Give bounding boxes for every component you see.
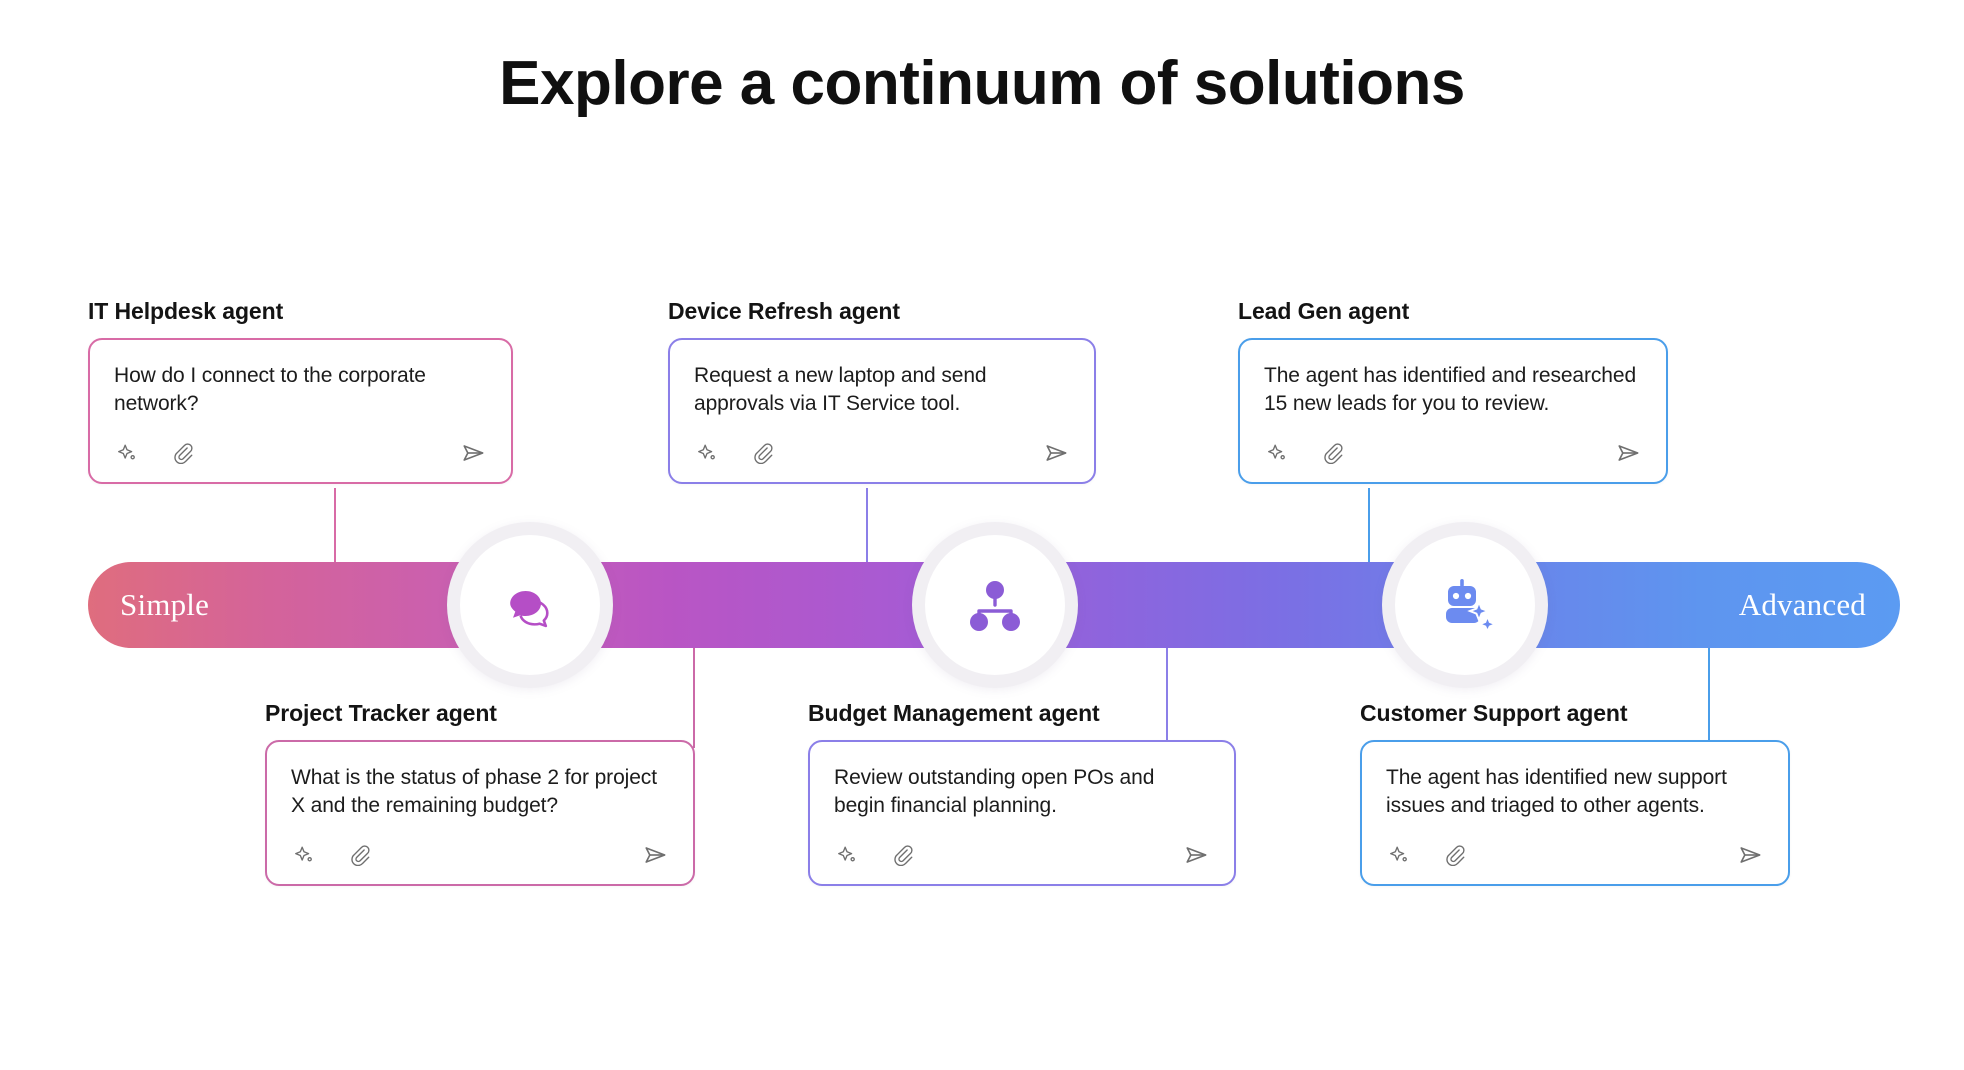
agent-message-text: Request a new laptop and send approvals …: [694, 362, 1070, 420]
agent-message-text: The agent has identified and researched …: [1264, 362, 1642, 420]
sparkle-icon[interactable]: [114, 440, 140, 466]
agent-message-card[interactable]: How do I connect to the corporate networ…: [88, 338, 513, 484]
send-icon[interactable]: [1044, 440, 1070, 466]
agent-card-it-helpdesk[interactable]: IT Helpdesk agent How do I connect to th…: [88, 298, 513, 484]
agent-card-device-refresh[interactable]: Device Refresh agent Request a new lapto…: [668, 298, 1096, 484]
paperclip-icon[interactable]: [170, 440, 196, 466]
continuum-label-simple: Simple: [120, 587, 209, 623]
send-icon[interactable]: [461, 440, 487, 466]
card-toolbar: [291, 842, 669, 868]
agent-label: IT Helpdesk agent: [88, 298, 513, 325]
agent-message-card[interactable]: What is the status of phase 2 for projec…: [265, 740, 695, 886]
agent-message-card[interactable]: The agent has identified and researched …: [1238, 338, 1668, 484]
sparkle-icon[interactable]: [1386, 842, 1412, 868]
paperclip-icon[interactable]: [1442, 842, 1468, 868]
paperclip-icon[interactable]: [1320, 440, 1346, 466]
card-toolbar: [114, 440, 487, 466]
agent-message-card[interactable]: The agent has identified new support iss…: [1360, 740, 1790, 886]
agent-label: Device Refresh agent: [668, 298, 1096, 325]
card-toolbar: [1386, 842, 1764, 868]
page-title: Explore a continuum of solutions: [0, 48, 1964, 119]
send-icon[interactable]: [643, 842, 669, 868]
sparkle-icon[interactable]: [834, 842, 860, 868]
send-icon[interactable]: [1616, 440, 1642, 466]
agent-label: Customer Support agent: [1360, 700, 1790, 727]
send-icon[interactable]: [1184, 842, 1210, 868]
agent-message-card[interactable]: Request a new laptop and send approvals …: [668, 338, 1096, 484]
sparkle-icon[interactable]: [1264, 440, 1290, 466]
agent-message-text: How do I connect to the corporate networ…: [114, 362, 487, 420]
agent-message-text: What is the status of phase 2 for projec…: [291, 764, 669, 822]
continuum-label-advanced: Advanced: [1739, 587, 1866, 623]
agent-card-budget-management[interactable]: Budget Management agent Review outstandi…: [808, 700, 1236, 886]
chat-bubbles-icon: [498, 573, 562, 637]
paperclip-icon[interactable]: [347, 842, 373, 868]
agent-message-text: Review outstanding open POs and begin fi…: [834, 764, 1210, 822]
agent-card-lead-gen[interactable]: Lead Gen agent The agent has identified …: [1238, 298, 1668, 484]
card-toolbar: [834, 842, 1210, 868]
send-icon[interactable]: [1738, 842, 1764, 868]
agent-label: Budget Management agent: [808, 700, 1236, 727]
robot-sparkle-icon: [1432, 572, 1498, 638]
continuum-node-chat[interactable]: [447, 522, 613, 688]
agent-message-card[interactable]: Review outstanding open POs and begin fi…: [808, 740, 1236, 886]
sparkle-icon[interactable]: [291, 842, 317, 868]
agent-label: Lead Gen agent: [1238, 298, 1668, 325]
continuum-node-robot[interactable]: [1382, 522, 1548, 688]
continuum-node-hierarchy[interactable]: [912, 522, 1078, 688]
agent-card-customer-support[interactable]: Customer Support agent The agent has ide…: [1360, 700, 1790, 886]
card-toolbar: [694, 440, 1070, 466]
sparkle-icon[interactable]: [694, 440, 720, 466]
card-toolbar: [1264, 440, 1642, 466]
paperclip-icon[interactable]: [750, 440, 776, 466]
paperclip-icon[interactable]: [890, 842, 916, 868]
hierarchy-icon: [964, 574, 1026, 636]
agent-card-project-tracker[interactable]: Project Tracker agent What is the status…: [265, 700, 695, 886]
agent-label: Project Tracker agent: [265, 700, 695, 727]
agent-message-text: The agent has identified new support iss…: [1386, 764, 1764, 822]
